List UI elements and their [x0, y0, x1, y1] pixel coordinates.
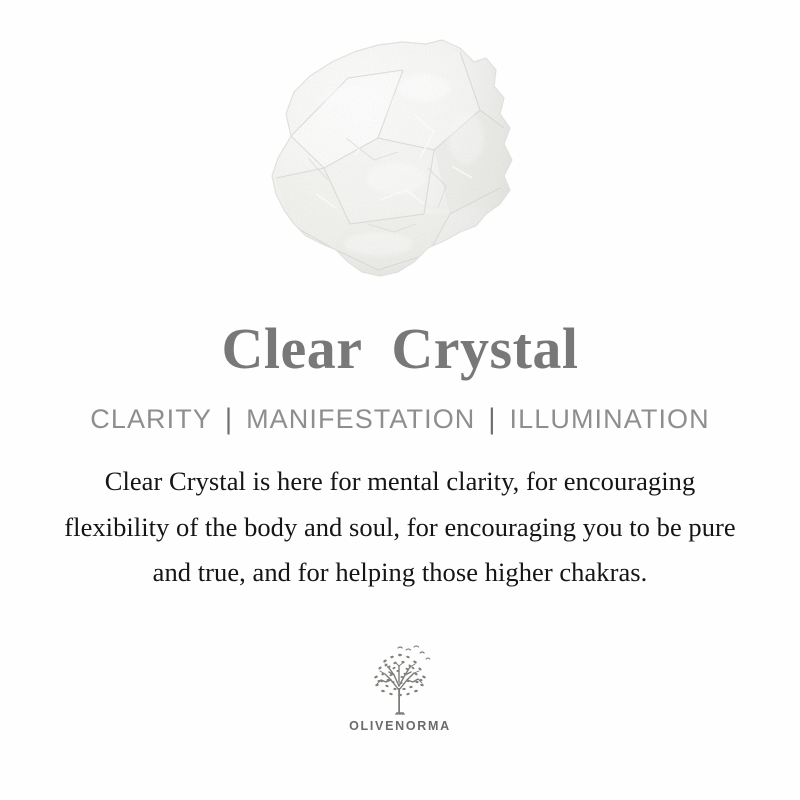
keyword-separator: |: [475, 405, 509, 433]
keyword-illumination: ILLUMINATION: [510, 406, 710, 433]
product-card: Clear Crystal CLARITY | MANIFESTATION | …: [0, 0, 800, 800]
olive-tree-icon: [358, 644, 442, 718]
clear-quartz-crystal-image: [228, 18, 548, 308]
page-title: Clear Crystal: [221, 320, 578, 378]
keyword-manifestation: MANIFESTATION: [246, 406, 475, 433]
product-description: Clear Crystal is here for mental clarity…: [50, 459, 750, 596]
keyword-separator: |: [212, 405, 246, 433]
brand-logo: OLIVENORMA: [349, 644, 451, 733]
product-keywords: CLARITY | MANIFESTATION | ILLUMINATION: [90, 406, 710, 433]
product-image-area: [0, 0, 800, 320]
keyword-clarity: CLARITY: [90, 406, 212, 433]
brand-name: OLIVENORMA: [349, 720, 451, 733]
